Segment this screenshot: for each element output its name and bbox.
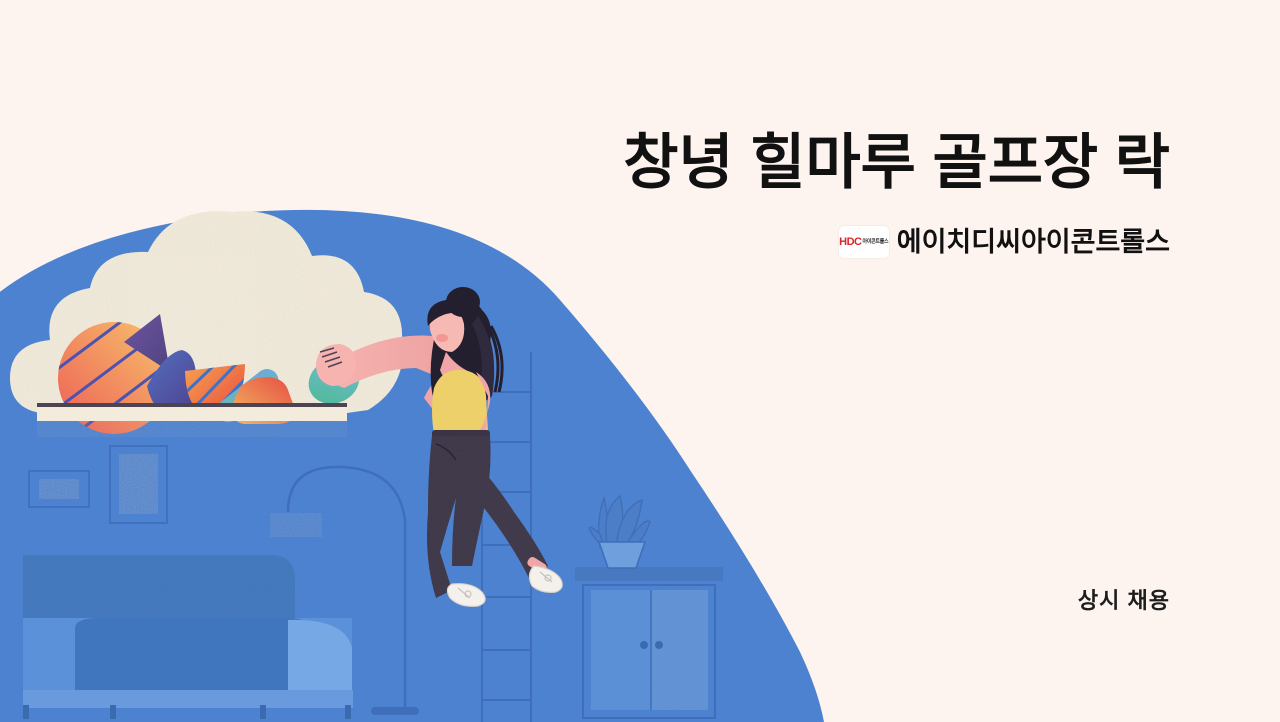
lamp-glow <box>270 513 322 537</box>
sofa-leg <box>110 705 116 719</box>
cabinet-knob <box>640 641 648 649</box>
cabinet-knob <box>655 641 663 649</box>
illustration-artwork <box>0 0 1280 722</box>
cabinet-top <box>575 567 723 581</box>
shelf-board <box>37 407 347 421</box>
job-posting-banner: 창녕 힐마루 골프장 락 HDC 아이콘트롤스 에이치디씨아이콘트롤스 상시 채… <box>0 0 1280 722</box>
shelf-board-edge <box>37 403 347 407</box>
plant-pot <box>599 542 645 568</box>
sofa-leg <box>23 705 29 719</box>
hair-bun <box>446 287 480 317</box>
floor-lamp-base <box>371 707 419 715</box>
sofa-leg <box>345 705 351 719</box>
sofa-leg <box>260 705 266 719</box>
yellow-top <box>432 370 488 434</box>
cheek <box>436 334 448 342</box>
